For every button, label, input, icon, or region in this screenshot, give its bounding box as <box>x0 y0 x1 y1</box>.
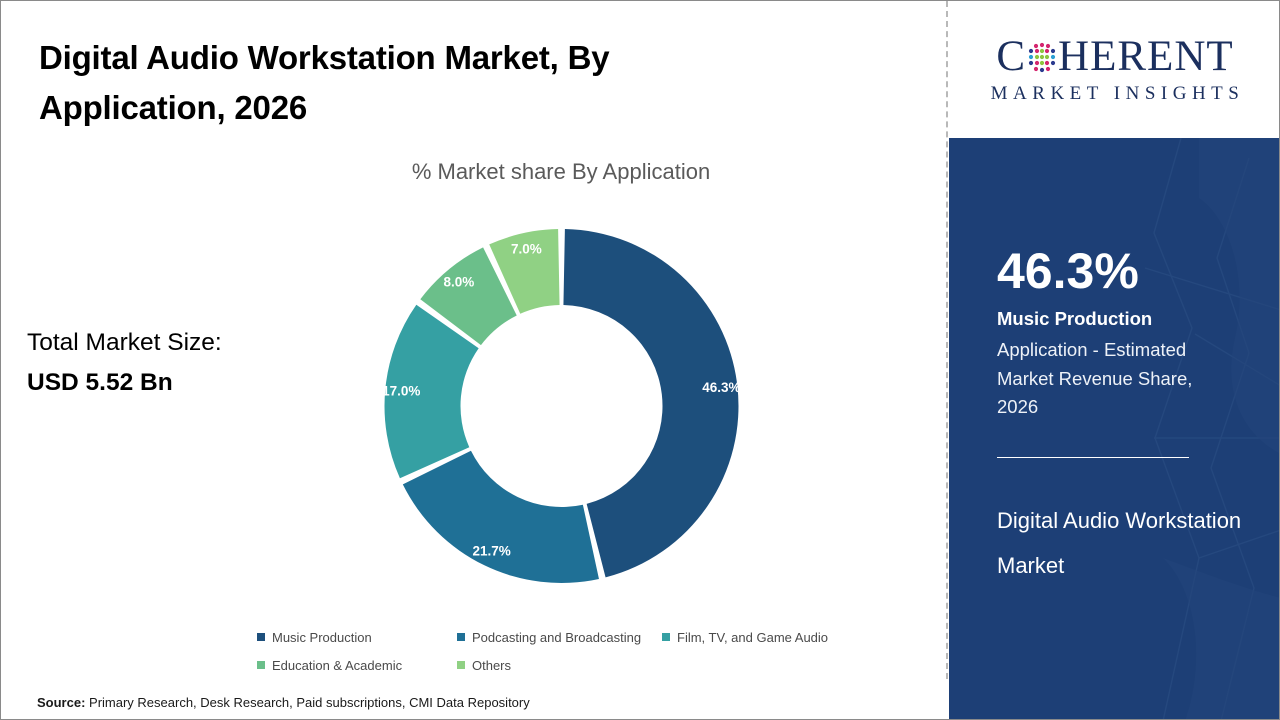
legend-swatch <box>457 661 465 669</box>
legend-item-others[interactable]: Others <box>457 658 662 673</box>
source-text: Primary Research, Desk Research, Paid su… <box>89 695 530 710</box>
logo-wordmark: C <box>996 35 1233 78</box>
legend-row: Education & Academic Others <box>257 651 897 679</box>
donut-slice-label: 8.0% <box>443 274 474 289</box>
highlight-segment-name: Music Production <box>997 308 1257 330</box>
chart-subtitle: % Market share By Application <box>301 159 821 185</box>
donut-slice-label: 17.0% <box>384 383 420 398</box>
legend-swatch <box>257 633 265 641</box>
total-market-size: Total Market Size: USD 5.52 Bn <box>27 323 327 402</box>
highlight-panel: 46.3% Music Production Application - Est… <box>949 138 1280 720</box>
logo-letter-c: C <box>996 35 1026 78</box>
highlight-description: Application - Estimated Market Revenue S… <box>997 336 1232 422</box>
legend-row: Music Production Podcasting and Broadcas… <box>257 623 897 651</box>
legend-item-music-production[interactable]: Music Production <box>257 630 457 645</box>
legend-swatch <box>457 633 465 641</box>
legend-label: Film, TV, and Game Audio <box>677 630 828 645</box>
donut-slice[interactable] <box>563 229 738 577</box>
legend-label: Others <box>472 658 511 673</box>
donut-chart: 46.3%21.7%17.0%8.0%7.0% <box>384 226 739 586</box>
source-label: Source: <box>37 695 85 710</box>
dotted-globe-icon <box>1027 39 1057 73</box>
legend-swatch <box>662 633 670 641</box>
panel-divider <box>946 1 948 679</box>
legend-item-podcasting-and-broadcasting[interactable]: Podcasting and Broadcasting <box>457 630 662 645</box>
total-market-size-value: USD 5.52 Bn <box>27 363 327 403</box>
legend-label: Education & Academic <box>272 658 402 673</box>
donut-slice-label: 21.7% <box>472 544 510 559</box>
legend-swatch <box>257 661 265 669</box>
chart-legend: Music Production Podcasting and Broadcas… <box>257 623 897 679</box>
logo-letters-herent: HERENT <box>1058 35 1234 78</box>
legend-item-education-and-academic[interactable]: Education & Academic <box>257 658 457 673</box>
legend-label: Podcasting and Broadcasting <box>472 630 641 645</box>
legend-item-film-tv-and-game-audio[interactable]: Film, TV, and Game Audio <box>662 630 828 645</box>
total-market-size-label: Total Market Size: <box>27 323 327 363</box>
highlight-market-name: Digital Audio Workstation Market <box>997 498 1247 588</box>
donut-slice-group <box>385 229 739 583</box>
company-logo: C <box>949 1 1280 138</box>
highlight-percentage: 46.3% <box>997 246 1139 296</box>
source-note: Source: Primary Research, Desk Research,… <box>37 695 530 710</box>
legend-label: Music Production <box>272 630 372 645</box>
right-sidebar: C <box>949 1 1280 720</box>
donut-slice-label: 46.3% <box>702 380 739 395</box>
logo-tagline: MARKET INSIGHTS <box>986 83 1245 105</box>
donut-chart-svg: 46.3%21.7%17.0%8.0%7.0% <box>384 226 739 586</box>
highlight-divider <box>997 457 1189 458</box>
donut-slice[interactable] <box>403 451 599 583</box>
donut-slice-label: 7.0% <box>511 241 542 256</box>
page-title: Digital Audio Workstation Market, By App… <box>39 33 739 133</box>
background-texture <box>949 138 1280 720</box>
infographic-canvas: Digital Audio Workstation Market, By App… <box>0 0 1280 720</box>
left-content-panel: Digital Audio Workstation Market, By App… <box>1 1 947 720</box>
